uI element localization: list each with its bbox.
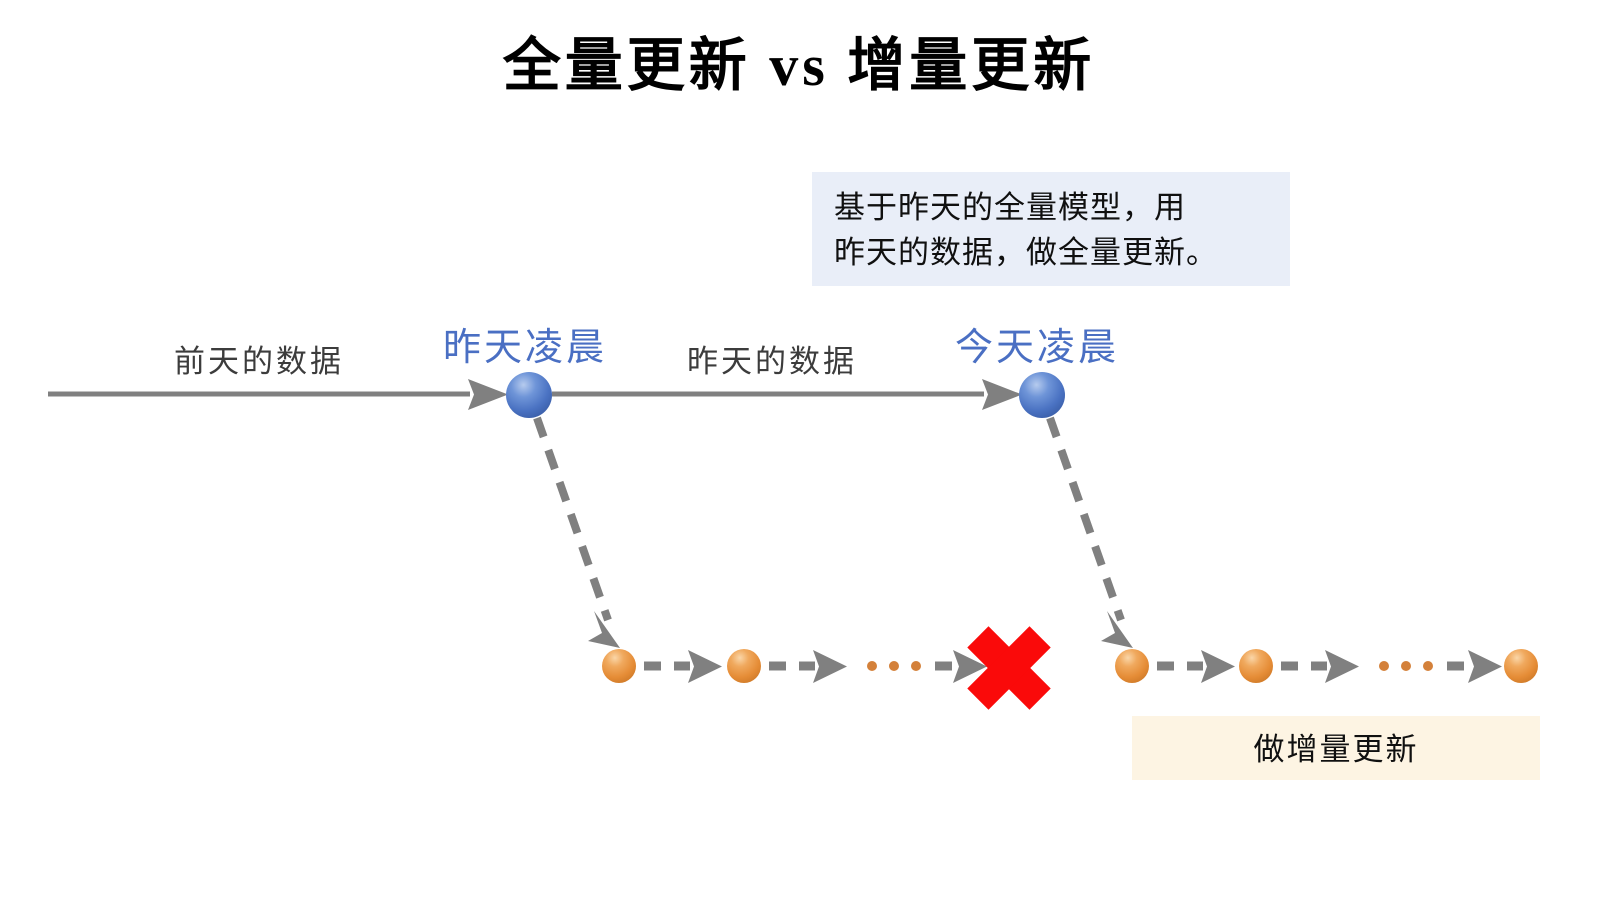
incremental-ellipsis-right [1379,661,1433,671]
incremental-node [1504,649,1538,683]
incremental-node [602,649,636,683]
diagram-canvas: 全量更新 vs 增量更新 基于昨天的全量模型，用 昨天的数据，做全量更新。 做增… [0,0,1598,900]
incremental-chain-left [602,649,987,683]
full-to-incremental-arrow-0 [537,418,620,648]
incremental-node [1115,649,1149,683]
milestone-sphere-0 [506,372,552,418]
incremental-node [1239,649,1273,683]
incremental-chain-right [1115,649,1538,683]
milestone-sphere-1 [1019,372,1065,418]
diagram-artwork [0,0,1598,900]
full-to-incremental-arrow-1 [1050,418,1133,648]
incremental-ellipsis-left [867,661,921,671]
incremental-node [727,649,761,683]
